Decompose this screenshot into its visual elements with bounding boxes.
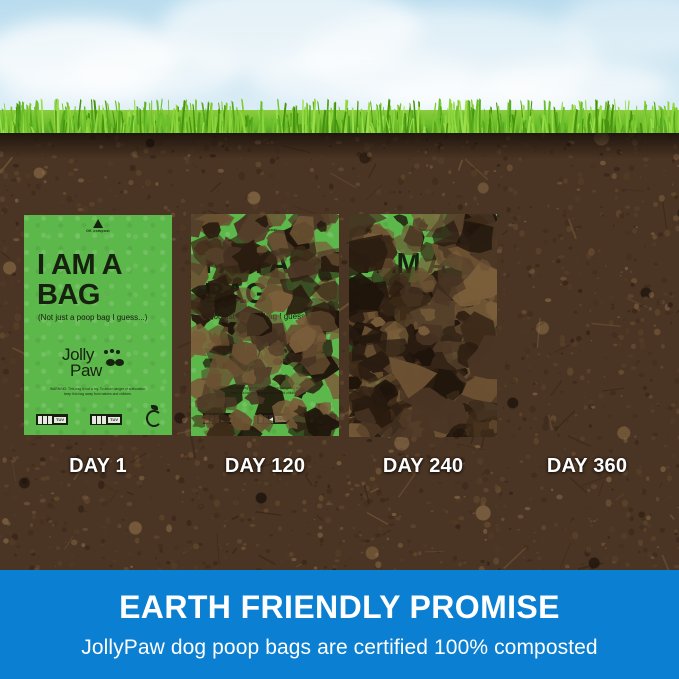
cert-badge-label: TUV <box>275 416 287 422</box>
cert-badge-tuv-2: TUV <box>90 414 122 425</box>
bag-texture <box>24 215 172 435</box>
brand-logo: Jolly Paw <box>62 347 102 378</box>
bag-warning-text: WARNING: This bag is not a toy. To avoid… <box>215 386 315 395</box>
cert-badge-label: TUV <box>108 417 120 423</box>
cert-badge-label: TUV <box>433 416 445 422</box>
compost-mark-icon: OK compost <box>86 219 110 233</box>
triangle-glyph <box>93 219 103 228</box>
bag-subline: (Not just a poop bag I guess...) <box>205 312 314 321</box>
compost-mark-icon: OK compost <box>253 218 277 232</box>
cert-bars-icon <box>38 416 52 424</box>
bag-headline-line1: I AM A <box>362 250 447 280</box>
soil-top-shadow <box>0 133 679 159</box>
cert-badge-tuv-1: TUV <box>203 413 235 424</box>
cert-badge-label: TUV <box>221 416 233 422</box>
promise-banner: EARTH FRIENDLY PROMISE JollyPaw dog poop… <box>0 570 679 679</box>
bag-headline-line2: BAG <box>204 280 289 310</box>
certification-badges: TUV TUV <box>203 404 327 424</box>
paw-dots-icon <box>104 349 128 365</box>
seedling-leaf <box>151 405 158 410</box>
bag-stage-day-120: OK compost I AM A BAG (Not just a poop b… <box>191 214 339 436</box>
cert-bars-icon <box>363 415 377 423</box>
bag-headline-line2: BAG <box>37 281 122 311</box>
seedling-leaf <box>476 404 483 409</box>
paw-dots-icon <box>271 348 295 364</box>
brand-name-line2: Paw <box>237 362 269 378</box>
seedling-arc <box>471 409 487 426</box>
banner-subtitle: JollyPaw dog poop bags are certified 100… <box>81 636 597 660</box>
cert-bars-icon <box>417 415 431 423</box>
brand-logo: Jolly Paw <box>387 346 427 377</box>
compost-mark-label: OK compost <box>411 228 435 232</box>
certification-badges: TUV TUV <box>36 405 160 425</box>
seedling-compost-icon <box>311 404 327 424</box>
seedling-leaf <box>318 404 325 409</box>
cert-badge-tuv-2: TUV <box>415 413 447 424</box>
stage-label-day-1: DAY 1 <box>24 455 172 478</box>
cert-bars-icon <box>259 415 273 423</box>
cert-badge-tuv-1: TUV <box>36 414 68 425</box>
compost-mark-label: OK compost <box>86 229 110 233</box>
seedling-compost-icon <box>144 405 160 425</box>
bag-headline: I AM A BAG <box>204 250 289 309</box>
stage-label-day-360: DAY 360 <box>507 455 667 478</box>
brand-logo: Jolly Paw <box>229 346 269 377</box>
paw-dots-icon <box>429 348 453 364</box>
cert-bars-icon <box>92 416 106 424</box>
seedling-compost-icon <box>469 404 485 424</box>
bag-warning-text: WARNING: This bag is not a toy. To avoid… <box>48 387 148 396</box>
certification-badges: TUV TUV <box>361 404 485 424</box>
bag-stage-day-1: OK compost I AM A BAG (Not just a poop b… <box>24 215 172 435</box>
bag-subline: (Not just a poop bag I guess...) <box>363 312 472 321</box>
stage-label-day-120: DAY 120 <box>191 455 339 478</box>
triangle-glyph <box>418 218 428 227</box>
brand-name-line2: Paw <box>395 362 427 378</box>
bag-subline: (Not just a poop bag I guess...) <box>38 313 147 322</box>
bag-headline-line2: BAG <box>362 280 447 310</box>
cert-bars-icon <box>205 415 219 423</box>
product-infographic: OK compost I AM A BAG (Not just a poop b… <box>0 0 679 679</box>
bag-headline-line1: I AM A <box>37 251 122 281</box>
bag-headline-line1: I AM A <box>204 250 289 280</box>
compost-mark-icon: OK compost <box>411 218 435 232</box>
cert-badge-tuv-2: TUV <box>257 413 289 424</box>
bag-stage-day-240: OK compost I AM A BAG (Not just a poop b… <box>349 214 497 437</box>
stage-label-day-240: DAY 240 <box>349 455 497 478</box>
bag-headline: I AM A BAG <box>362 250 447 309</box>
cert-badge-tuv-1: TUV <box>361 413 393 424</box>
cert-badge-label: TUV <box>379 416 391 422</box>
brand-name-line2: Paw <box>70 363 102 379</box>
triangle-glyph <box>260 218 270 227</box>
seedling-arc <box>146 410 162 427</box>
banner-headline: EARTH FRIENDLY PROMISE <box>119 589 560 626</box>
compost-mark-label: OK compost <box>253 228 277 232</box>
seedling-arc <box>313 409 329 426</box>
bag-warning-text: WARNING: This bag is not a toy. To avoid… <box>373 386 473 395</box>
cert-badge-label: TUV <box>54 417 66 423</box>
bag-headline: I AM A BAG <box>37 251 122 310</box>
